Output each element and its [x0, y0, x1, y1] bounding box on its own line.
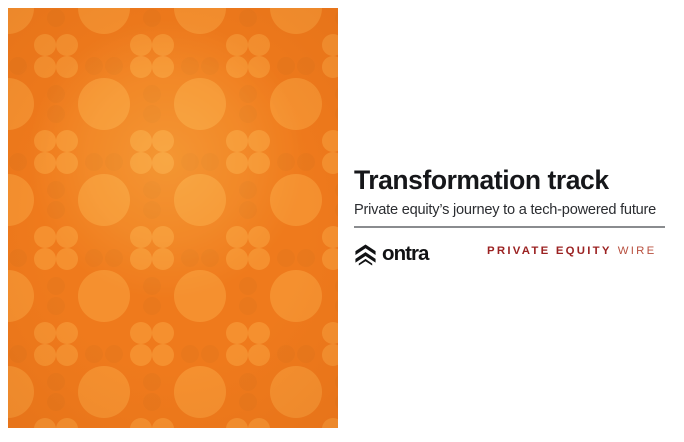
- pattern-svg: [8, 8, 338, 428]
- logo-row: ontra PRIVATE EQUITY WIRE: [354, 239, 665, 269]
- private-equity-wire-logo[interactable]: PRIVATE EQUITY WIRE: [487, 245, 657, 263]
- pattern-tiles: [8, 8, 338, 428]
- ontra-chevron-mark-icon: [354, 243, 377, 266]
- content-column: Transformation track Private equity’s jo…: [354, 0, 666, 442]
- pattern-background: [8, 8, 338, 428]
- ontra-wordmark: ontra: [382, 244, 429, 265]
- private-equity-wire-secondary-text: WIRE: [612, 245, 657, 257]
- private-equity-wire-primary-text: PRIVATE EQUITY: [487, 245, 612, 257]
- horizontal-divider: [354, 226, 665, 228]
- hero-image-panel: [8, 8, 338, 428]
- page-title: Transformation track: [354, 166, 609, 195]
- page-subtitle: Private equity’s journey to a tech-power…: [354, 201, 656, 219]
- ontra-logo[interactable]: ontra: [354, 239, 429, 269]
